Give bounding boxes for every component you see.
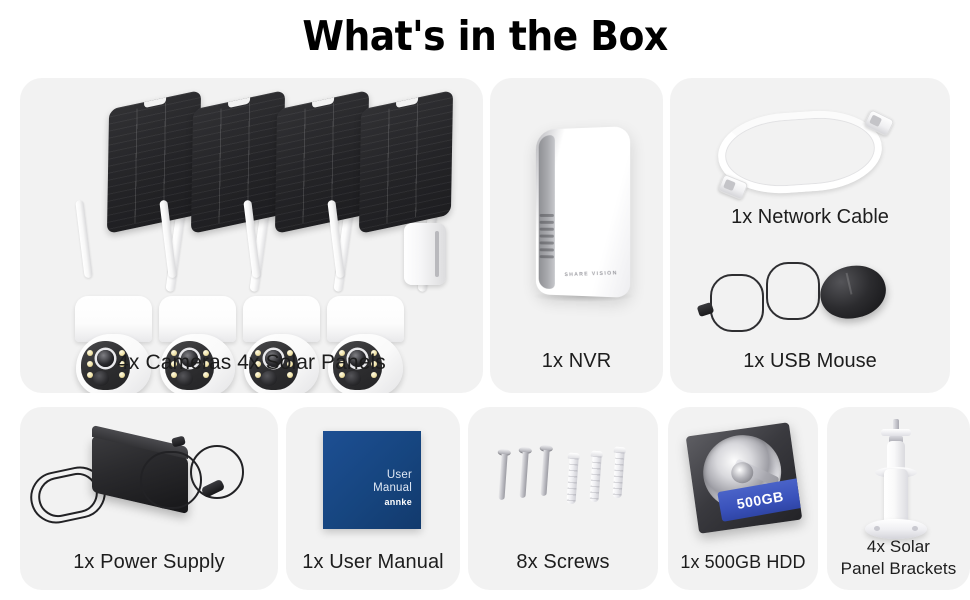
card-cameras-solar-panels: 4x Cameras 4x Solar Panels [20, 78, 483, 393]
manual-cover-brand: annke [340, 497, 412, 507]
card-label-usb-mouse: 1x USB Mouse [670, 350, 950, 373]
card-hdd: 500GB 1x 500GB HDD [668, 407, 818, 590]
card-label-nvr: 1x NVR [490, 349, 663, 373]
usb-mouse-art [670, 78, 950, 393]
card-label-user-manual: 1x User Manual [286, 550, 460, 574]
cameras-solar-panels-art [20, 78, 483, 393]
solar-panel-2 [191, 90, 285, 234]
card-user-manual: User Manual annke 1x User Manual [286, 407, 460, 590]
solar-panel-4 [359, 90, 453, 234]
nvr-art: SHARE VISION [490, 78, 663, 393]
user-manual-cover: User Manual annke [323, 431, 421, 529]
hdd-capacity-text: 500GB [735, 488, 784, 512]
card-network-cable-and-mouse: 1x Network Cable 1x USB Mouse [670, 78, 950, 393]
nvr-brand-text: SHARE VISION [564, 270, 618, 278]
solar-panel-notch-1 [144, 96, 166, 108]
hard-drive-body: 500GB [686, 422, 803, 534]
card-screws: 8x Screws [468, 407, 658, 590]
solar-panel-notch-4 [396, 96, 418, 108]
card-label-cameras: 4x Cameras 4x Solar Panels [20, 351, 483, 375]
solar-panel-notch-2 [228, 96, 250, 108]
solar-panel-1 [107, 90, 201, 234]
wall-anchor-icon [592, 451, 602, 452]
bracket-lower-column [884, 469, 908, 525]
wall-anchor-icon [615, 447, 625, 448]
card-label-screws: 8x Screws [468, 550, 658, 574]
camera-antenna-1 [75, 200, 92, 278]
mouse-cord-segment [766, 262, 820, 320]
card-power-supply: 1x Power Supply [20, 407, 278, 590]
nvr-body: SHARE VISION [536, 126, 630, 298]
card-label-brackets: 4x Solar Panel Brackets [827, 536, 970, 580]
solar-panel-3 [275, 90, 369, 234]
mouse-body [815, 259, 891, 325]
manual-cover-title: User Manual [340, 469, 412, 495]
card-label-power-supply: 1x Power Supply [20, 550, 278, 574]
nvr-side-strip [539, 135, 555, 289]
wall-anchor-icon [569, 453, 579, 454]
card-solar-panel-brackets: 4x Solar Panel Brackets [827, 407, 970, 590]
whats-in-the-box-infographic: What's in the Box [0, 0, 970, 600]
screw-icon [521, 447, 530, 448]
page-title: What's in the Box [39, 12, 931, 60]
card-nvr: SHARE VISION 1x NVR [490, 78, 663, 393]
bracket-top-plate [881, 429, 911, 436]
mouse-cord-segment [710, 274, 764, 332]
camera-wall-mount [404, 223, 446, 285]
solar-panel-notch-3 [312, 96, 334, 108]
card-label-hdd: 1x 500GB HDD [668, 550, 818, 574]
screw-icon [500, 449, 509, 450]
screw-icon [542, 445, 551, 446]
nvr-vents [540, 214, 554, 261]
